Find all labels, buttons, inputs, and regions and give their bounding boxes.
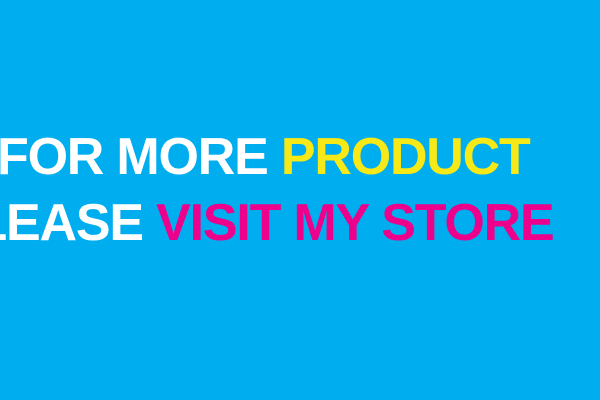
headline-space-1 bbox=[268, 128, 281, 186]
headline-line-1: FOR MORE PRODUCT bbox=[0, 131, 600, 183]
headline-text-block: FOR MORE PRODUCT PLEASE VISIT MY STORE bbox=[0, 0, 600, 400]
headline-space-2 bbox=[143, 194, 156, 252]
promo-banner: FOR MORE PRODUCT PLEASE VISIT MY STORE bbox=[0, 0, 600, 400]
headline-segment-please: PLEASE bbox=[0, 194, 143, 252]
headline-line-2: PLEASE VISIT MY STORE bbox=[0, 197, 600, 249]
headline-segment-product: PRODUCT bbox=[281, 128, 530, 186]
headline-segment-visit-my-store: VISIT MY STORE bbox=[156, 194, 553, 252]
headline-segment-for-more: FOR MORE bbox=[0, 128, 268, 186]
